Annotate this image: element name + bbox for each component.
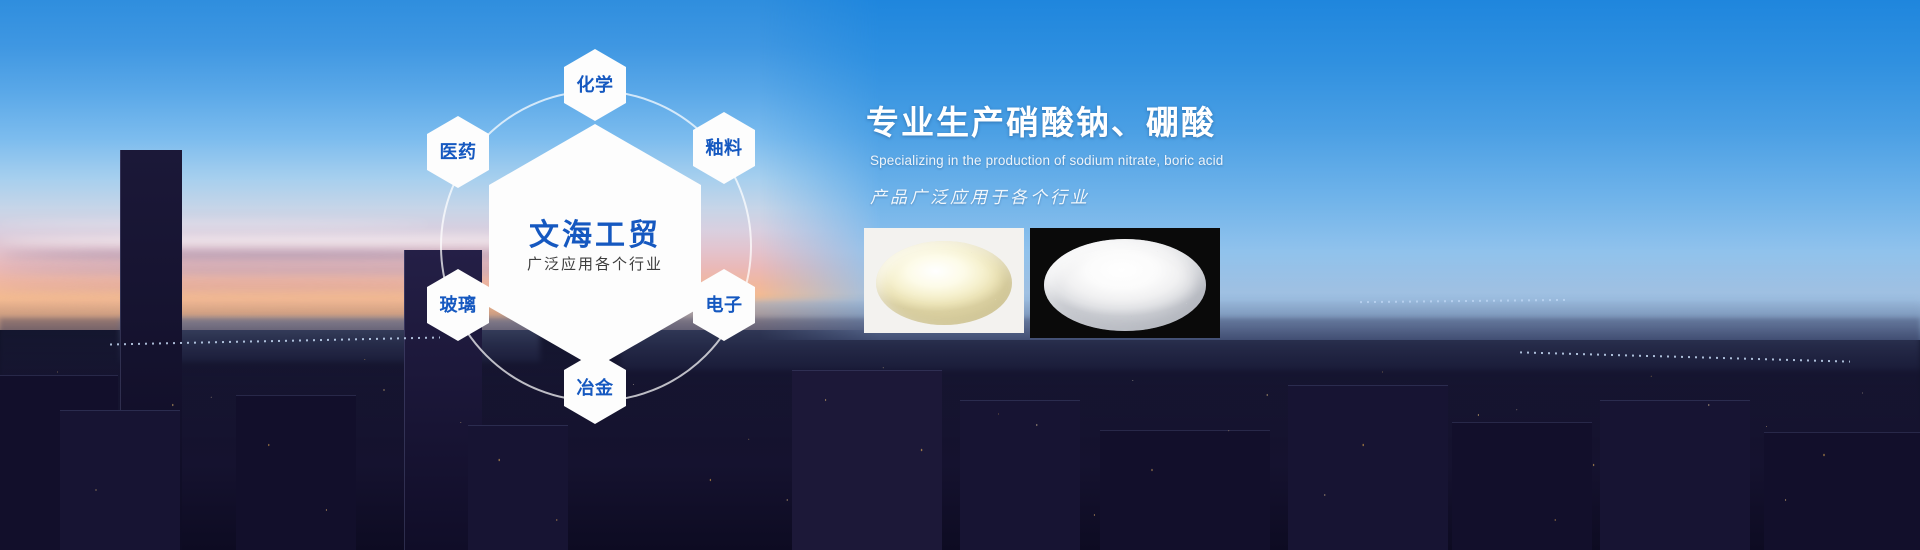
promo-banner: 文海工贸 广泛应用各个行业 化学 釉料 电子 冶金 玻璃 医药 专业生产硝酸钠、… [0,0,1920,550]
powder-grain-texture [1044,239,1206,331]
hex-node-label: 釉料 [706,139,743,157]
headline: 专业生产硝酸钠、硼酸 [866,104,1586,143]
tagline: 产品广泛应用于各个行业 [870,188,1586,208]
hex-node-label: 冶金 [577,379,614,397]
powder-pile [1044,239,1206,331]
product-photo-boric-acid [1030,228,1220,338]
powder-grain-texture [876,241,1012,325]
hex-node-label: 玻璃 [440,296,477,314]
brand-name: 文海工贸 [529,221,661,251]
english-subtitle: Specializing in the production of sodium… [870,152,1586,170]
hex-node-label: 电子 [706,296,743,314]
hex-node-label: 医药 [440,143,477,161]
hex-node-label: 化学 [577,76,614,94]
brand-slogan: 广泛应用各个行业 [527,257,663,272]
product-photo-sodium-nitrate [864,228,1024,333]
marketing-copy: 专业生产硝酸钠、硼酸 Specializing in the productio… [866,104,1586,209]
powder-pile [876,241,1012,325]
